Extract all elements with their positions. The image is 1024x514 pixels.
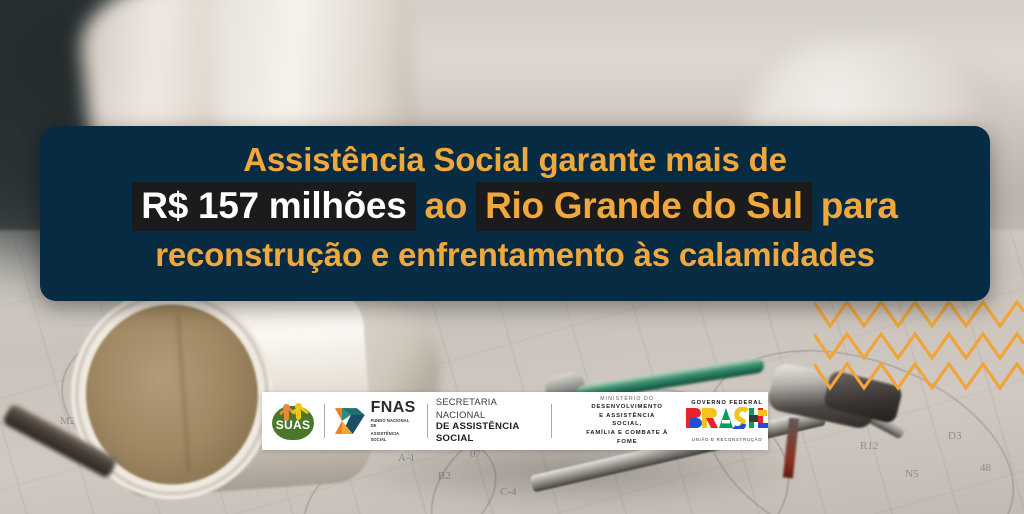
place-highlight: Rio Grande do Sul <box>476 182 812 231</box>
blueprint-mark: R12 <box>860 440 878 452</box>
fnas-acronym: FNAS <box>371 400 416 416</box>
blueprint-mark: 48 <box>980 462 991 474</box>
divider <box>324 404 325 438</box>
brasil-wordmark-icon <box>686 407 768 429</box>
secretaria-line-2: DE ASSISTÊNCIA SOCIAL <box>436 421 542 446</box>
ministerio-line-1: MINISTÉRIO DO <box>584 396 670 404</box>
fnas-subtitle-line-2: ASSISTÊNCIA SOCIAL <box>371 431 416 442</box>
secretaria-nacional-block: SECRETARIA NACIONAL DE ASSISTÊNCIA SOCIA… <box>436 392 542 450</box>
headline-line-2: R$ 157 milhõesaoRio Grande do Sulpara <box>40 179 990 233</box>
fnas-text: FNAS FUNDO NACIONAL DE ASSISTÊNCIA SOCIA… <box>371 400 416 442</box>
fnas-arrow-icon <box>333 403 367 439</box>
headline-line-3: reconstrução e enfrentamento às calamida… <box>40 233 990 271</box>
secretaria-text: SECRETARIA NACIONAL DE ASSISTÊNCIA SOCIA… <box>436 396 542 445</box>
ministerio-line-3: E ASSISTÊNCIA SOCIAL, <box>584 412 670 429</box>
governo-federal-logo: GOVERNO FEDERAL <box>686 400 768 442</box>
suas-acronym: SUAS <box>270 418 316 432</box>
ministerio-block: MINISTÉRIO DO DESENVOLVIMENTO E ASSISTÊN… <box>560 392 670 450</box>
blueprint-mark: N5 <box>905 468 918 480</box>
headline-trailing: para <box>812 185 898 226</box>
suas-logo: SUAS <box>262 392 316 450</box>
institutional-logo-bar: SUAS FNAS FUNDO NACIONAL DE ASSISTÊNCIA … <box>262 392 768 450</box>
fnas-subtitle-line-1: FUNDO NACIONAL DE <box>371 418 416 429</box>
governo-federal-label: GOVERNO FEDERAL <box>686 400 768 406</box>
divider <box>427 404 428 438</box>
divider <box>551 404 552 438</box>
ministerio-text: MINISTÉRIO DO DESENVOLVIMENTO E ASSISTÊN… <box>584 396 670 446</box>
fnas-logo: FNAS FUNDO NACIONAL DE ASSISTÊNCIA SOCIA… <box>333 392 416 450</box>
headline-connector: ao <box>416 185 477 226</box>
ministerio-line-2: DESENVOLVIMENTO <box>584 403 670 412</box>
headline-banner: Assistência Social garante mais de R$ 15… <box>40 126 990 301</box>
amount-highlight: R$ 157 milhões <box>132 182 415 231</box>
secretaria-line-1: SECRETARIA NACIONAL <box>436 396 542 420</box>
headline-line-1: Assistência Social garante mais de <box>40 139 990 179</box>
blueprint-mark: D3 <box>948 430 961 442</box>
governo-federal-tagline: UNIÃO E RECONSTRUÇÃO <box>686 437 768 442</box>
zigzag-decoration <box>814 296 1024 392</box>
suas-icon: SUAS <box>270 400 316 442</box>
ministerio-line-4: FAMÍLIA E COMBATE À FOME <box>584 429 670 446</box>
governo-federal-block: GOVERNO FEDERAL <box>670 392 768 450</box>
